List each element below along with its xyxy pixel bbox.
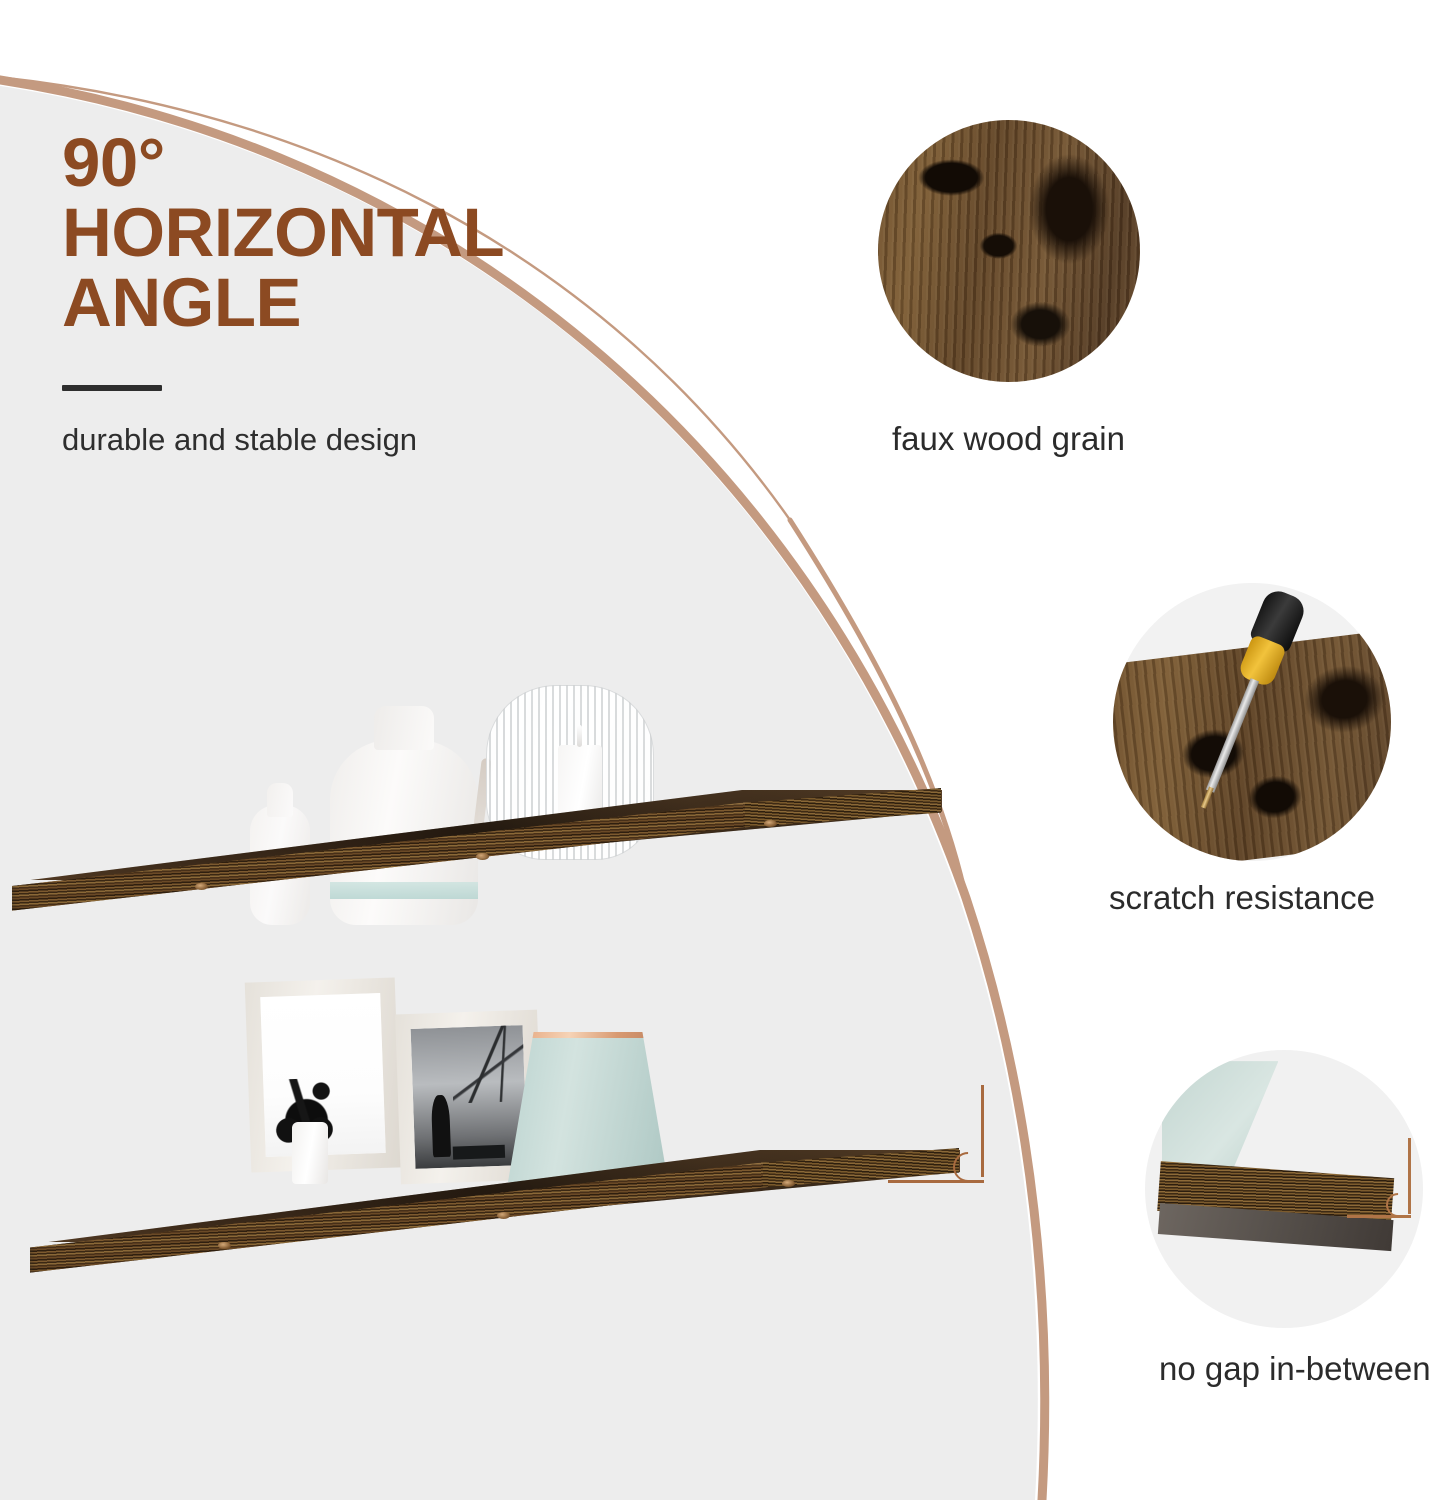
angle-marker bbox=[888, 1085, 984, 1183]
shelf-screw-hole bbox=[218, 1242, 231, 1249]
lower-shelf bbox=[0, 970, 980, 1290]
title-divider bbox=[62, 385, 162, 391]
shelf-screw-hole bbox=[497, 1212, 510, 1219]
shelf-screw-hole bbox=[782, 1180, 795, 1187]
wood-grain-texture bbox=[878, 120, 1140, 382]
product-feature-banner: 90° HORIZONTAL ANGLE durable and stable … bbox=[0, 0, 1445, 1500]
shelf-screw-hole bbox=[195, 883, 208, 890]
shelf-screw-hole bbox=[476, 853, 489, 860]
callout-caption: faux wood grain bbox=[892, 420, 1125, 458]
callout-scratch-resistance: scratch resistance bbox=[1113, 583, 1433, 933]
shelf-screw-hole bbox=[764, 820, 777, 827]
headline-block: 90° HORIZONTAL ANGLE durable and stable … bbox=[62, 128, 622, 457]
no-gap-photo bbox=[1145, 1050, 1423, 1328]
mint-copper-vase bbox=[508, 1032, 668, 1182]
upper-shelf bbox=[0, 630, 960, 930]
page-subtitle: durable and stable design bbox=[62, 423, 622, 457]
callout-no-gap-in-between: no gap in-between bbox=[1145, 1050, 1445, 1440]
product-scene bbox=[0, 500, 1000, 1330]
callout-faux-wood-grain: faux wood grain bbox=[878, 120, 1148, 480]
faux-wood-grain-image bbox=[878, 120, 1140, 382]
callout-caption: no gap in-between bbox=[1159, 1350, 1431, 1388]
no-gap-image bbox=[1145, 1050, 1423, 1328]
scratch-resistance-image bbox=[1113, 583, 1391, 861]
scratch-test-photo bbox=[1113, 583, 1391, 861]
page-title: 90° HORIZONTAL ANGLE bbox=[62, 128, 622, 338]
angle-marker-small bbox=[1347, 1138, 1411, 1218]
white-cylinder-vase bbox=[292, 1122, 328, 1184]
callout-caption: scratch resistance bbox=[1109, 879, 1375, 917]
wall-corner bbox=[1162, 1061, 1279, 1178]
